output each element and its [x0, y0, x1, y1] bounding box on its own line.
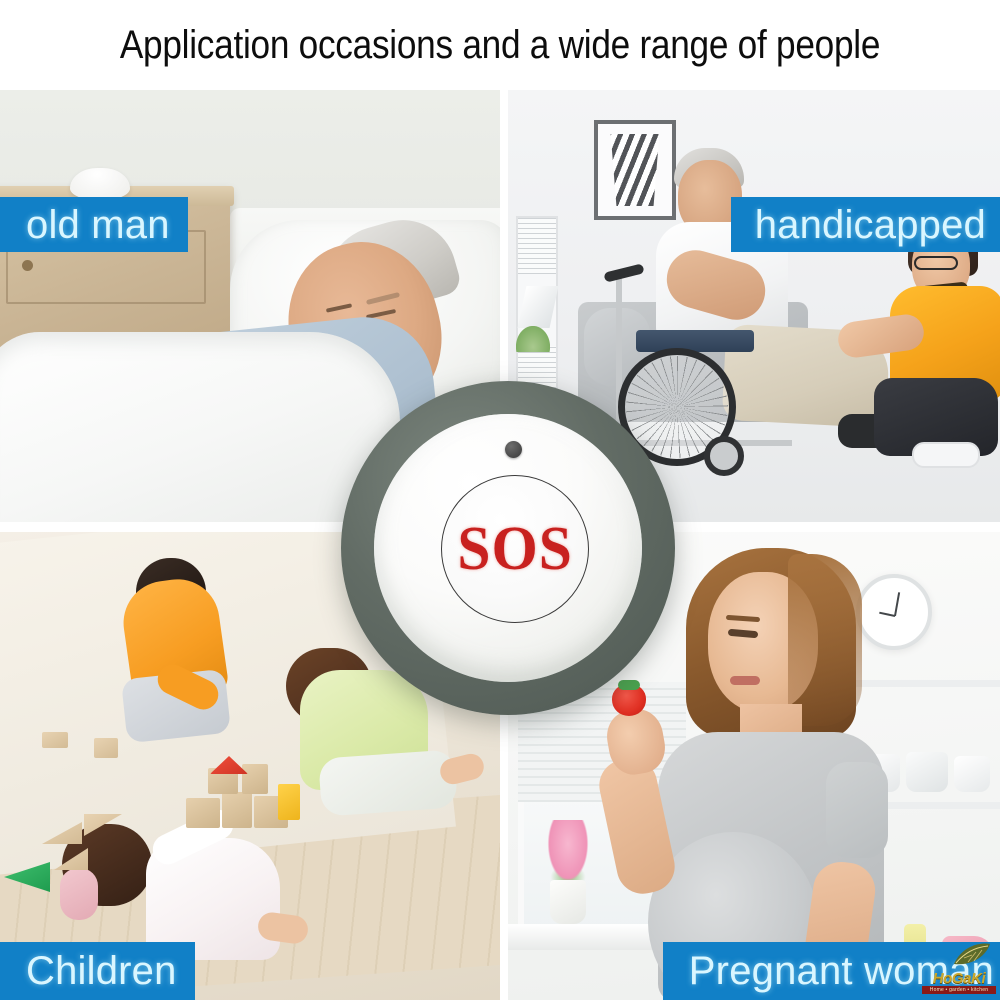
table-lamp: [70, 168, 130, 200]
hogaki-watermark: HoGaKi Home • garden • kitchen: [922, 944, 996, 994]
badge-children: Children: [0, 942, 195, 1000]
sos-label: SOS: [457, 518, 572, 580]
woman-hair-front: [788, 554, 862, 726]
block: [186, 798, 220, 828]
kitchen-shelf-upper: [838, 680, 1000, 687]
status-led-icon: [505, 441, 522, 458]
block: [242, 764, 268, 794]
badge-handicapped: handicapped: [731, 197, 1000, 252]
pink-flowers: [544, 820, 592, 888]
caregiver-shoe: [912, 442, 980, 468]
drawer-knob-icon: [22, 260, 33, 271]
shelf-grid-upper: [518, 218, 556, 274]
duvet: [0, 332, 400, 522]
plant-icon: [516, 326, 550, 352]
wooden-block-tower: [186, 762, 310, 834]
block: [42, 732, 68, 748]
sos-emergency-button-device[interactable]: SOS: [341, 381, 675, 715]
sos-press-button[interactable]: SOS: [441, 475, 589, 623]
girl-white-top: [60, 868, 98, 920]
page-title: Application occasions and a wide range o…: [120, 23, 880, 68]
badge-old-man: old man: [0, 197, 188, 252]
leaf-logo-icon: [952, 942, 992, 968]
flower-pot: [550, 880, 586, 924]
block: [94, 738, 118, 758]
wall-clock-icon: [856, 574, 932, 650]
girl-green-legs: [318, 749, 458, 816]
glasses-icon: [914, 256, 958, 270]
product-infographic: Application occasions and a wide range o…: [0, 0, 1000, 1000]
wheelchair-caster: [704, 436, 744, 476]
block: [222, 792, 252, 828]
woman-sleeve: [826, 762, 888, 858]
watermark-name: HoGaKi: [933, 971, 986, 986]
watermark-tagline: Home • garden • kitchen: [922, 986, 996, 994]
block-yellow: [278, 784, 300, 820]
mug: [906, 752, 948, 792]
mug: [954, 756, 990, 792]
wheelchair-seat: [636, 330, 754, 352]
woman-mouth: [730, 676, 760, 685]
title-bar: Application occasions and a wide range o…: [0, 0, 1000, 90]
